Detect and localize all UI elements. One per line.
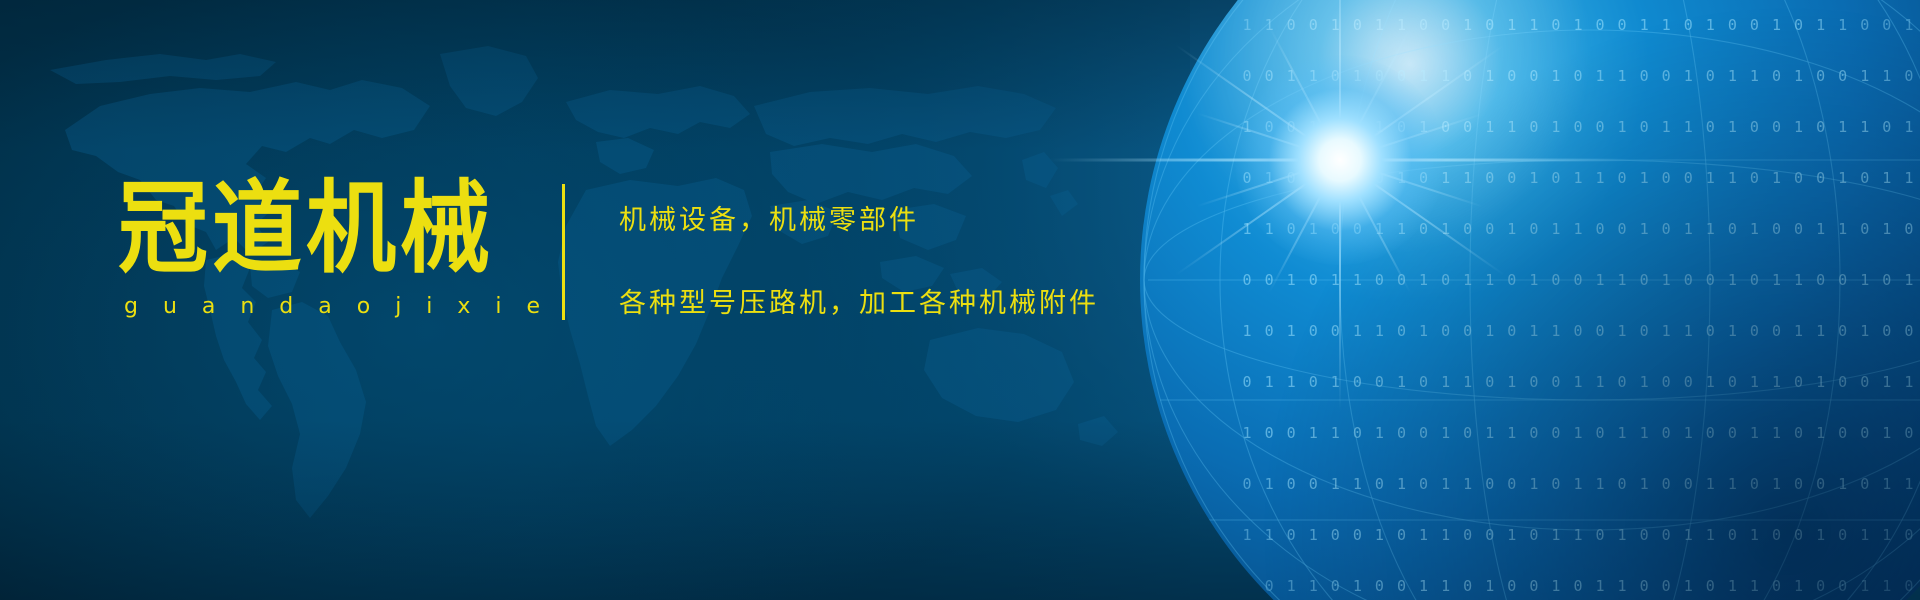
banner-content: 冠道机械 g u a n d a o j i x i e 机械设备，机械零部件 … bbox=[118, 178, 1178, 320]
tagline-primary: 机械设备，机械零部件 bbox=[619, 198, 1099, 237]
brand-name-cn: 冠道机械 bbox=[118, 178, 538, 281]
tagline-secondary: 各种型号压路机，加工各种机械附件 bbox=[619, 281, 1099, 320]
brand-name-pinyin: g u a n d a o j i x i e bbox=[124, 294, 538, 319]
brand-logo: 冠道机械 g u a n d a o j i x i e bbox=[118, 178, 538, 319]
hero-banner: 0 1 0 0 1 1 0 1 0 1 1 0 0 1 0 1 1 0 1 0 … bbox=[0, 0, 1920, 600]
tagline-group: 机械设备，机械零部件 各种型号压路机，加工各种机械附件 bbox=[619, 178, 1099, 320]
vertical-divider bbox=[562, 184, 565, 320]
